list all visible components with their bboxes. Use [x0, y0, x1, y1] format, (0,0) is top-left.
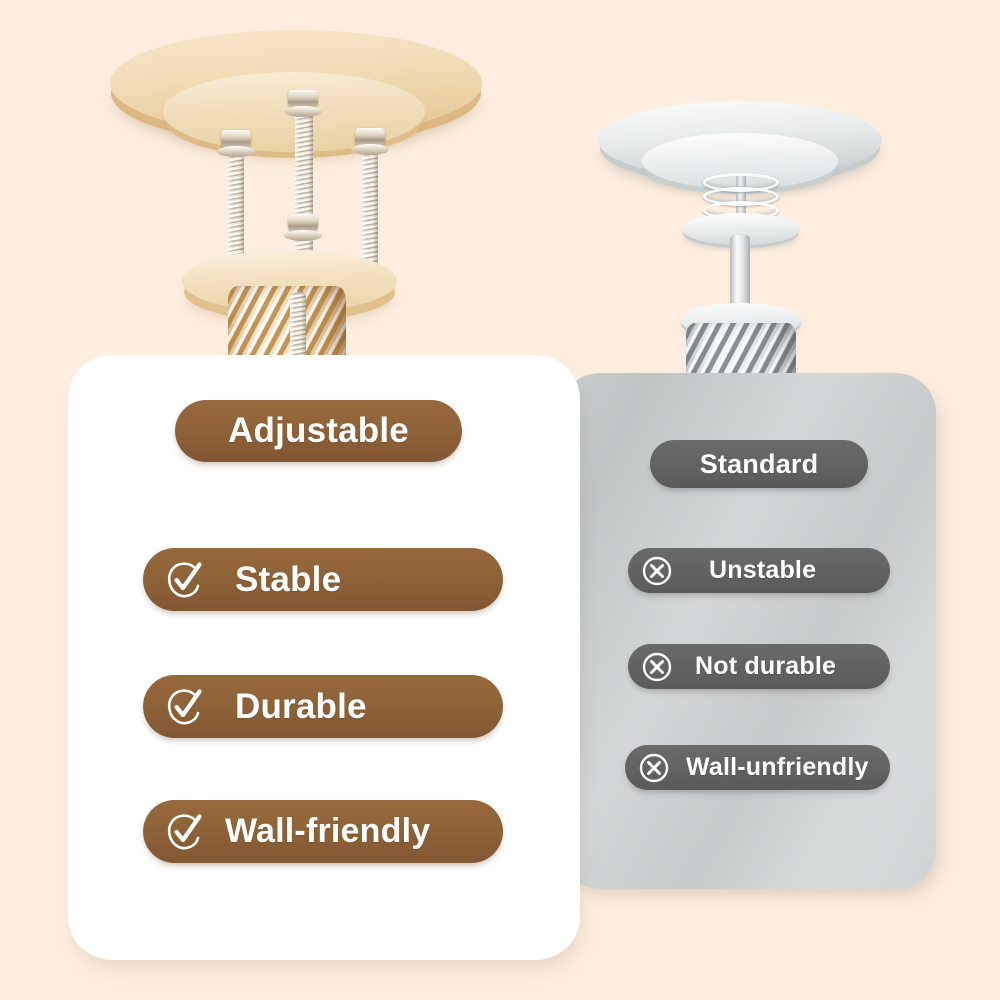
feature-pill-wall-unfriendly[interactable]: Wall-unfriendly [625, 745, 890, 790]
feature-pill-stable-label: Stable [235, 560, 341, 600]
feature-pill-durable-label: Durable [235, 687, 367, 727]
feature-pill-unstable-label: Unstable [709, 556, 816, 585]
heading-pill-adjustable[interactable]: Adjustable [175, 400, 462, 462]
feature-pill-not-durable[interactable]: Not durable [628, 644, 890, 689]
feature-pill-wall-friendly[interactable]: Wall-friendly [143, 800, 503, 863]
feature-pill-durable[interactable]: Durable [143, 675, 503, 738]
heading-pill-adjustable-label: Adjustable [228, 411, 409, 451]
wooden-adjustable-ceiling-mount-image [110, 22, 510, 382]
heading-pill-standard-label: Standard [700, 449, 819, 480]
check-circle-icon [161, 556, 209, 604]
x-circle-icon [641, 651, 673, 683]
feature-pill-unstable[interactable]: Unstable [628, 548, 890, 593]
grey-standard-ceiling-mount-image [598, 95, 898, 385]
feature-pill-wall-friendly-label: Wall-friendly [225, 812, 430, 851]
feature-pill-wall-unfriendly-label: Wall-unfriendly [686, 753, 869, 782]
heading-pill-standard[interactable]: Standard [650, 440, 868, 488]
feature-pill-stable[interactable]: Stable [143, 548, 503, 611]
check-circle-icon [161, 808, 209, 856]
comparison-graphic: Adjustable Stable Durable Wall-friendly … [0, 0, 1000, 1000]
x-circle-icon [638, 752, 670, 784]
check-circle-icon [161, 683, 209, 731]
feature-pill-not-durable-label: Not durable [695, 652, 836, 681]
x-circle-icon [641, 555, 673, 587]
